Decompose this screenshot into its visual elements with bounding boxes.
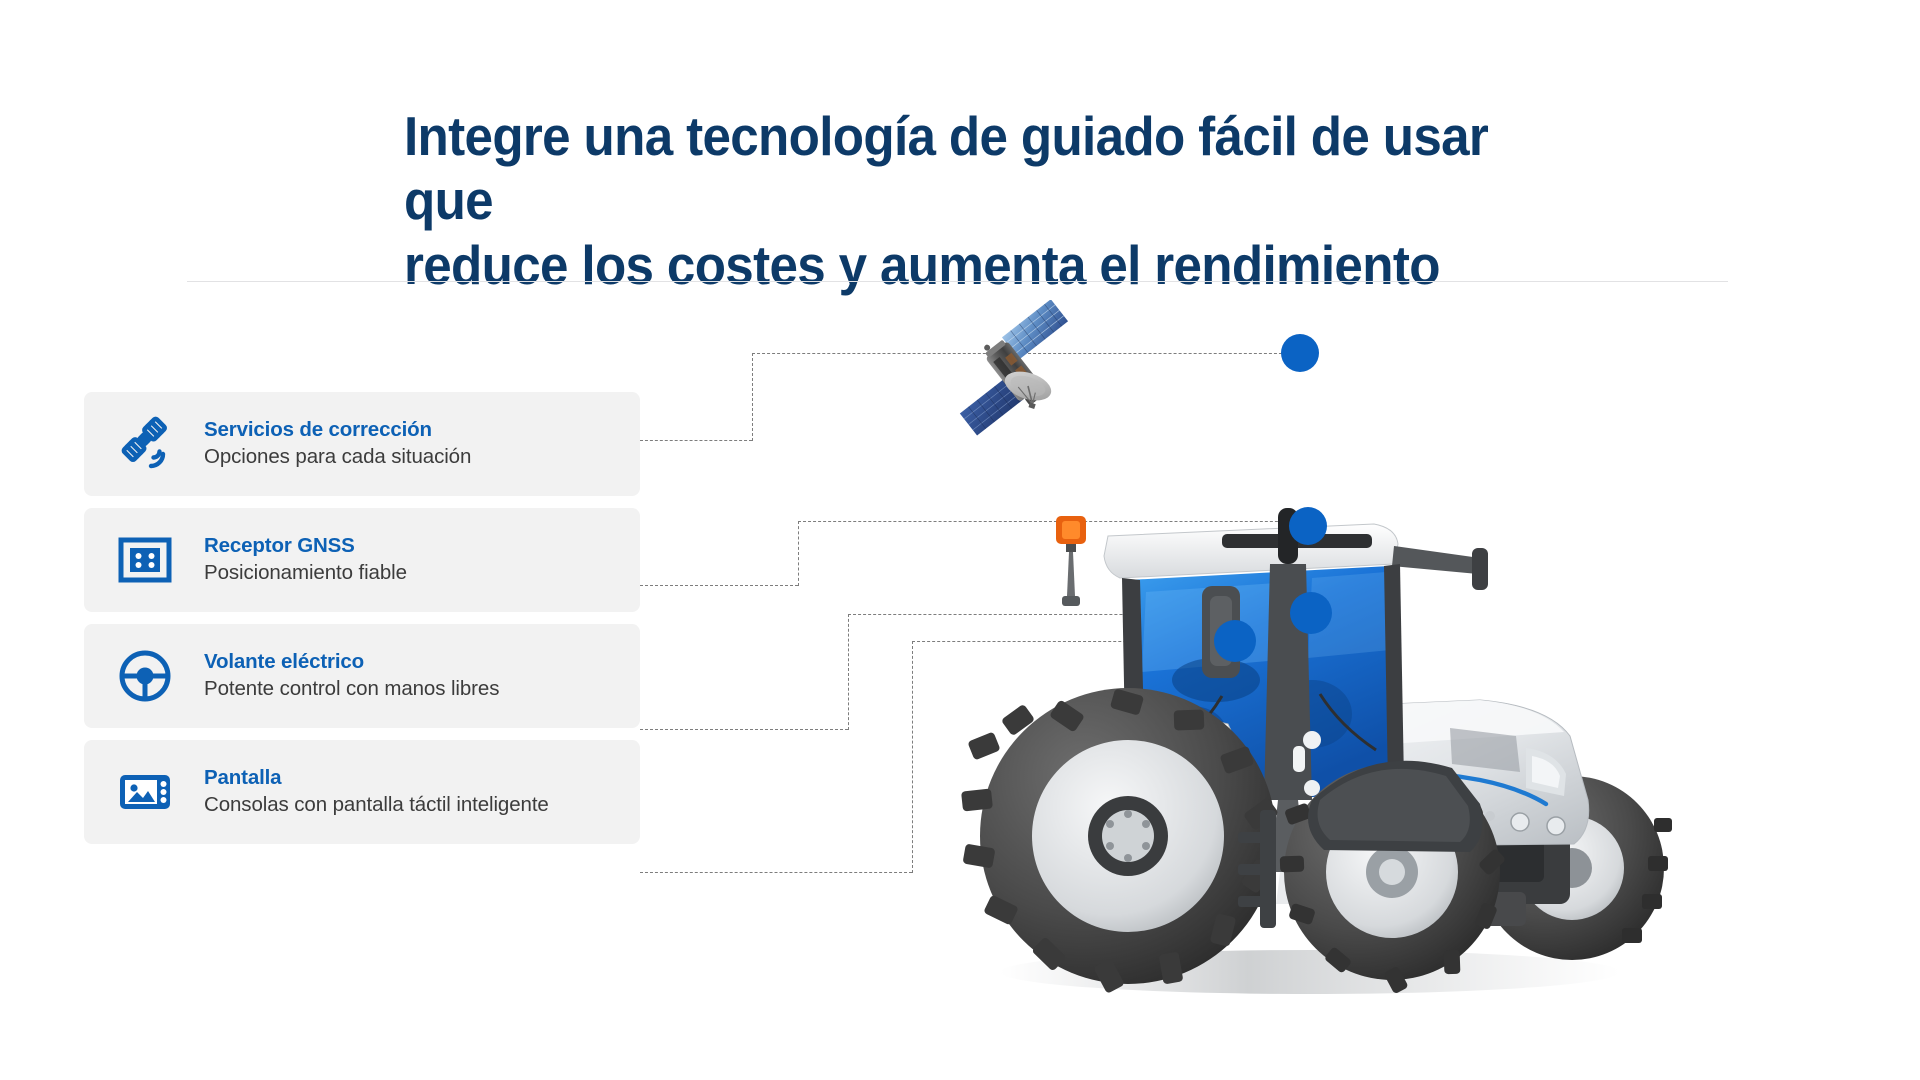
feature-card-text: Pantalla Consolas con pantalla táctil in…	[204, 765, 549, 819]
feature-card-subtitle: Opciones para cada situación	[204, 444, 471, 471]
gnss-satellite	[932, 300, 1092, 450]
marker-gnss-receiver	[1289, 507, 1327, 545]
page-title: Integre una tecnología de guiado fácil d…	[404, 104, 1520, 297]
feature-card-title: Pantalla	[204, 765, 549, 791]
connector-1-segment-h1	[640, 440, 752, 441]
feature-card-subtitle: Consolas con pantalla táctil inteligente	[204, 792, 549, 819]
feature-card-correction-services[interactable]: Servicios de corrección Opciones para ca…	[84, 392, 640, 496]
connector-2-segment-h1	[640, 585, 798, 586]
feature-card-display[interactable]: Pantalla Consolas con pantalla táctil in…	[84, 740, 640, 844]
feature-card-title: Servicios de corrección	[204, 417, 471, 443]
steering-wheel-icon	[114, 645, 176, 707]
header-divider	[187, 281, 1728, 282]
feature-card-gnss-receiver[interactable]: Receptor GNSS Posicionamiento fiable	[84, 508, 640, 612]
feature-card-text: Servicios de corrección Opciones para ca…	[204, 417, 471, 471]
connector-4-segment-h1	[640, 872, 912, 873]
marker-satellite	[1281, 334, 1319, 372]
feature-card-text: Receptor GNSS Posicionamiento fiable	[204, 533, 407, 587]
agricultural-tractor	[960, 500, 1700, 1010]
feature-card-title: Receptor GNSS	[204, 533, 407, 559]
feature-card-subtitle: Posicionamiento fiable	[204, 560, 407, 587]
satellite-signal-icon	[114, 413, 176, 475]
connector-4-segment-v	[912, 641, 913, 873]
marker-display	[1290, 592, 1332, 634]
feature-card-title: Volante eléctrico	[204, 649, 499, 675]
feature-card-electric-steering[interactable]: Volante eléctrico Potente control con ma…	[84, 624, 640, 728]
feature-card-subtitle: Potente control con manos libres	[204, 676, 499, 703]
connector-3-segment-h1	[640, 729, 848, 730]
feature-card-text: Volante eléctrico Potente control con ma…	[204, 649, 499, 703]
connector-1-segment-v	[752, 353, 753, 441]
marker-steering-wheel	[1214, 620, 1256, 662]
display-screen-icon	[114, 761, 176, 823]
connector-3-segment-v	[848, 614, 849, 730]
infographic-slide: Integre una tecnología de guiado fácil d…	[0, 0, 1920, 1080]
gnss-receiver-icon	[114, 529, 176, 591]
connector-2-segment-v	[798, 521, 799, 586]
